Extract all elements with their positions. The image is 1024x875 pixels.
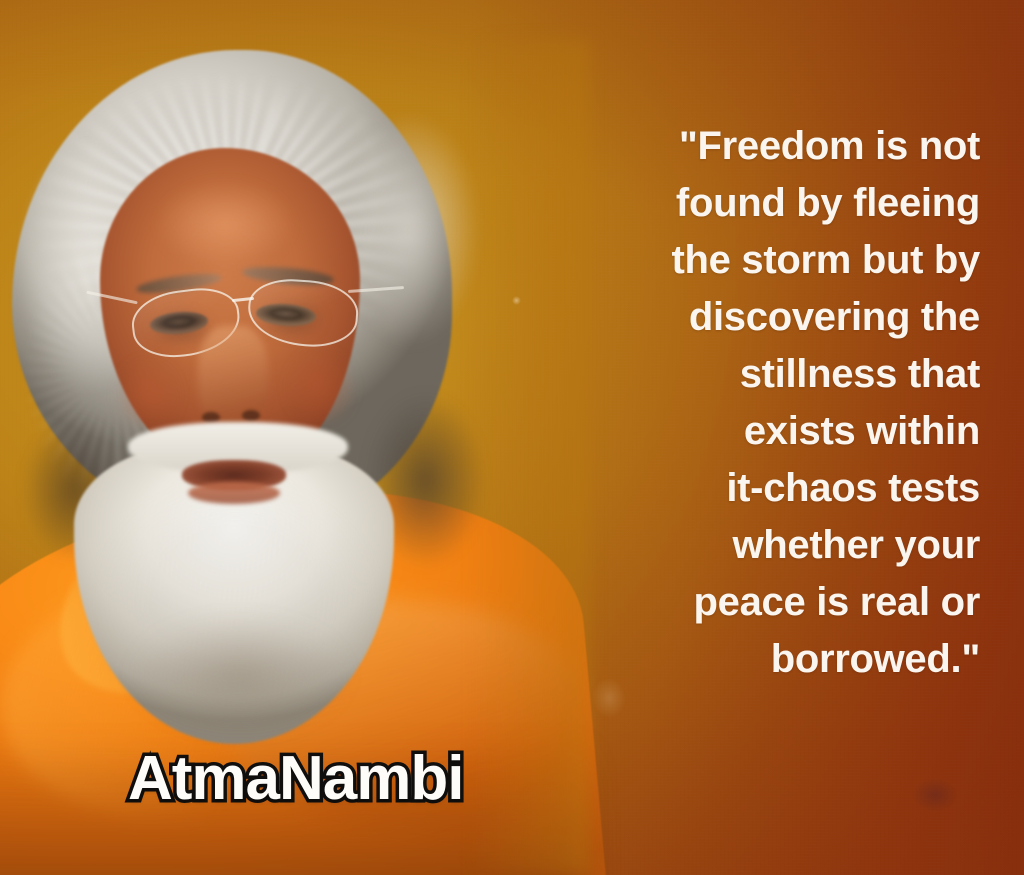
forehead-highlight xyxy=(140,170,310,280)
nostril-right xyxy=(242,410,260,421)
quote-text: "Freedom is not found by fleeing the sto… xyxy=(640,118,980,688)
author-signature: AtmaNambi xyxy=(128,748,464,810)
cheek-right xyxy=(278,340,364,436)
background-smudge-secondary xyxy=(912,778,958,812)
beard-shadow xyxy=(100,600,380,750)
quote-card: "Freedom is not found by fleeing the sto… xyxy=(0,0,1024,875)
lower-lip xyxy=(188,482,280,504)
